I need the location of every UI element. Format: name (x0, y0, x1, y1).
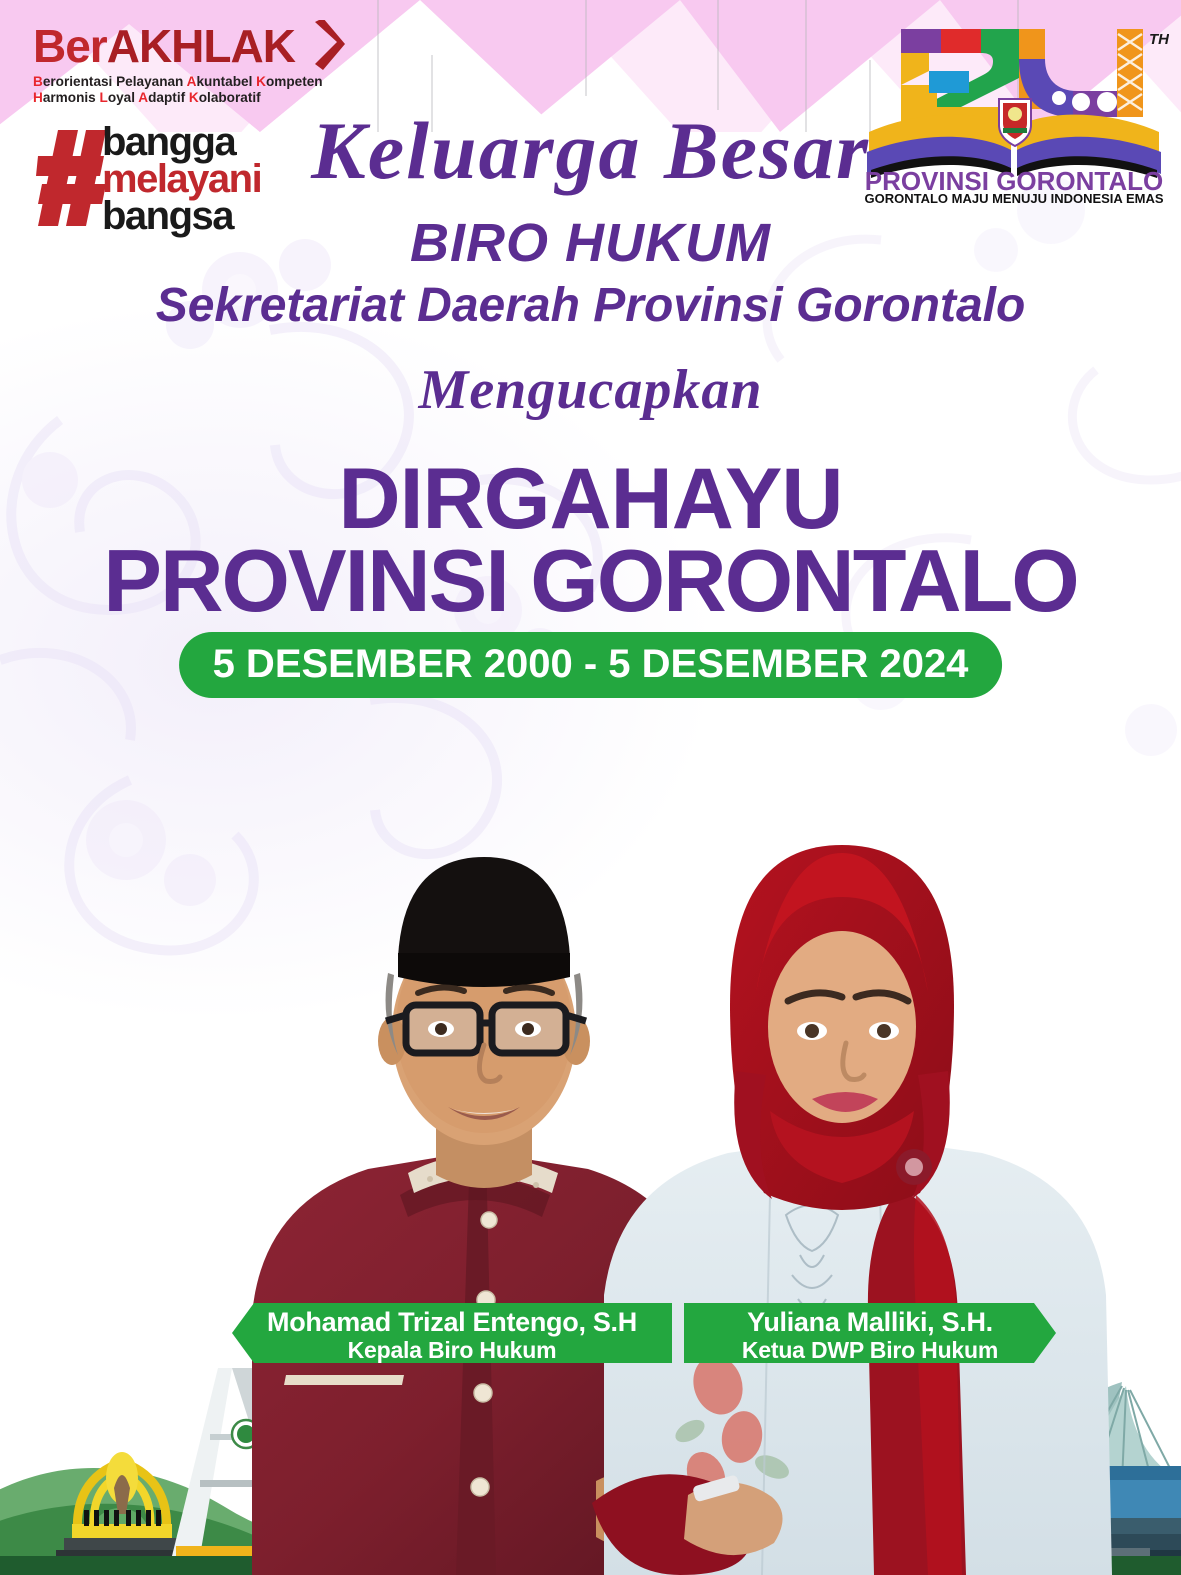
name-banner-row: Mohamad Trizal Entengo, S.H Kepala Biro … (0, 1303, 1181, 1367)
anniversary-ordinal-suffix: TH (1149, 31, 1169, 48)
man-role: Kepala Biro Hukum (232, 1338, 672, 1363)
greeting-script-mid: Mengucapkan (0, 358, 1181, 422)
anniversary-greeting-line-2: PROVINSI GORONTALO (0, 540, 1181, 622)
woman-role: Ketua DWP Biro Hukum (684, 1338, 1056, 1363)
berakhlak-word-akhlak: AKHLAK (107, 20, 295, 72)
name-banner-woman: Yuliana Malliki, S.H. Ketua DWP Biro Huk… (684, 1303, 1056, 1363)
organization-parent: Sekretariat Daerah Provinsi Gorontalo (0, 278, 1181, 334)
berakhlak-tagline: Berorientasi Pelayanan Akuntabel Kompete… (33, 74, 333, 106)
anniversary-greeting: DIRGAHAYU PROVINSI GORONTALO (0, 458, 1181, 622)
name-banner-man: Mohamad Trizal Entengo, S.H Kepala Biro … (232, 1303, 672, 1363)
berakhlak-word-ber: Ber (33, 20, 107, 72)
greeting-script-top: Keluarga Besar (0, 108, 1181, 194)
couple-portrait-photo (0, 675, 1181, 1575)
organization-name: BIRO HUKUM (0, 214, 1181, 272)
berakhlak-logo: BerAKHLAK Berorientasi Pelayanan Akuntab… (33, 22, 333, 106)
man-name: Mohamad Trizal Entengo, S.H (232, 1303, 672, 1338)
woman-name: Yuliana Malliki, S.H. (684, 1303, 1056, 1338)
poster-canvas: BerAKHLAK Berorientasi Pelayanan Akuntab… (0, 0, 1181, 1575)
anniversary-number-4-icon (1019, 29, 1143, 117)
chevron-right-icon (311, 20, 345, 72)
woman-figure (592, 845, 1112, 1575)
berakhlak-wordmark: BerAKHLAK (33, 22, 333, 70)
brooch-icon (896, 1149, 932, 1185)
